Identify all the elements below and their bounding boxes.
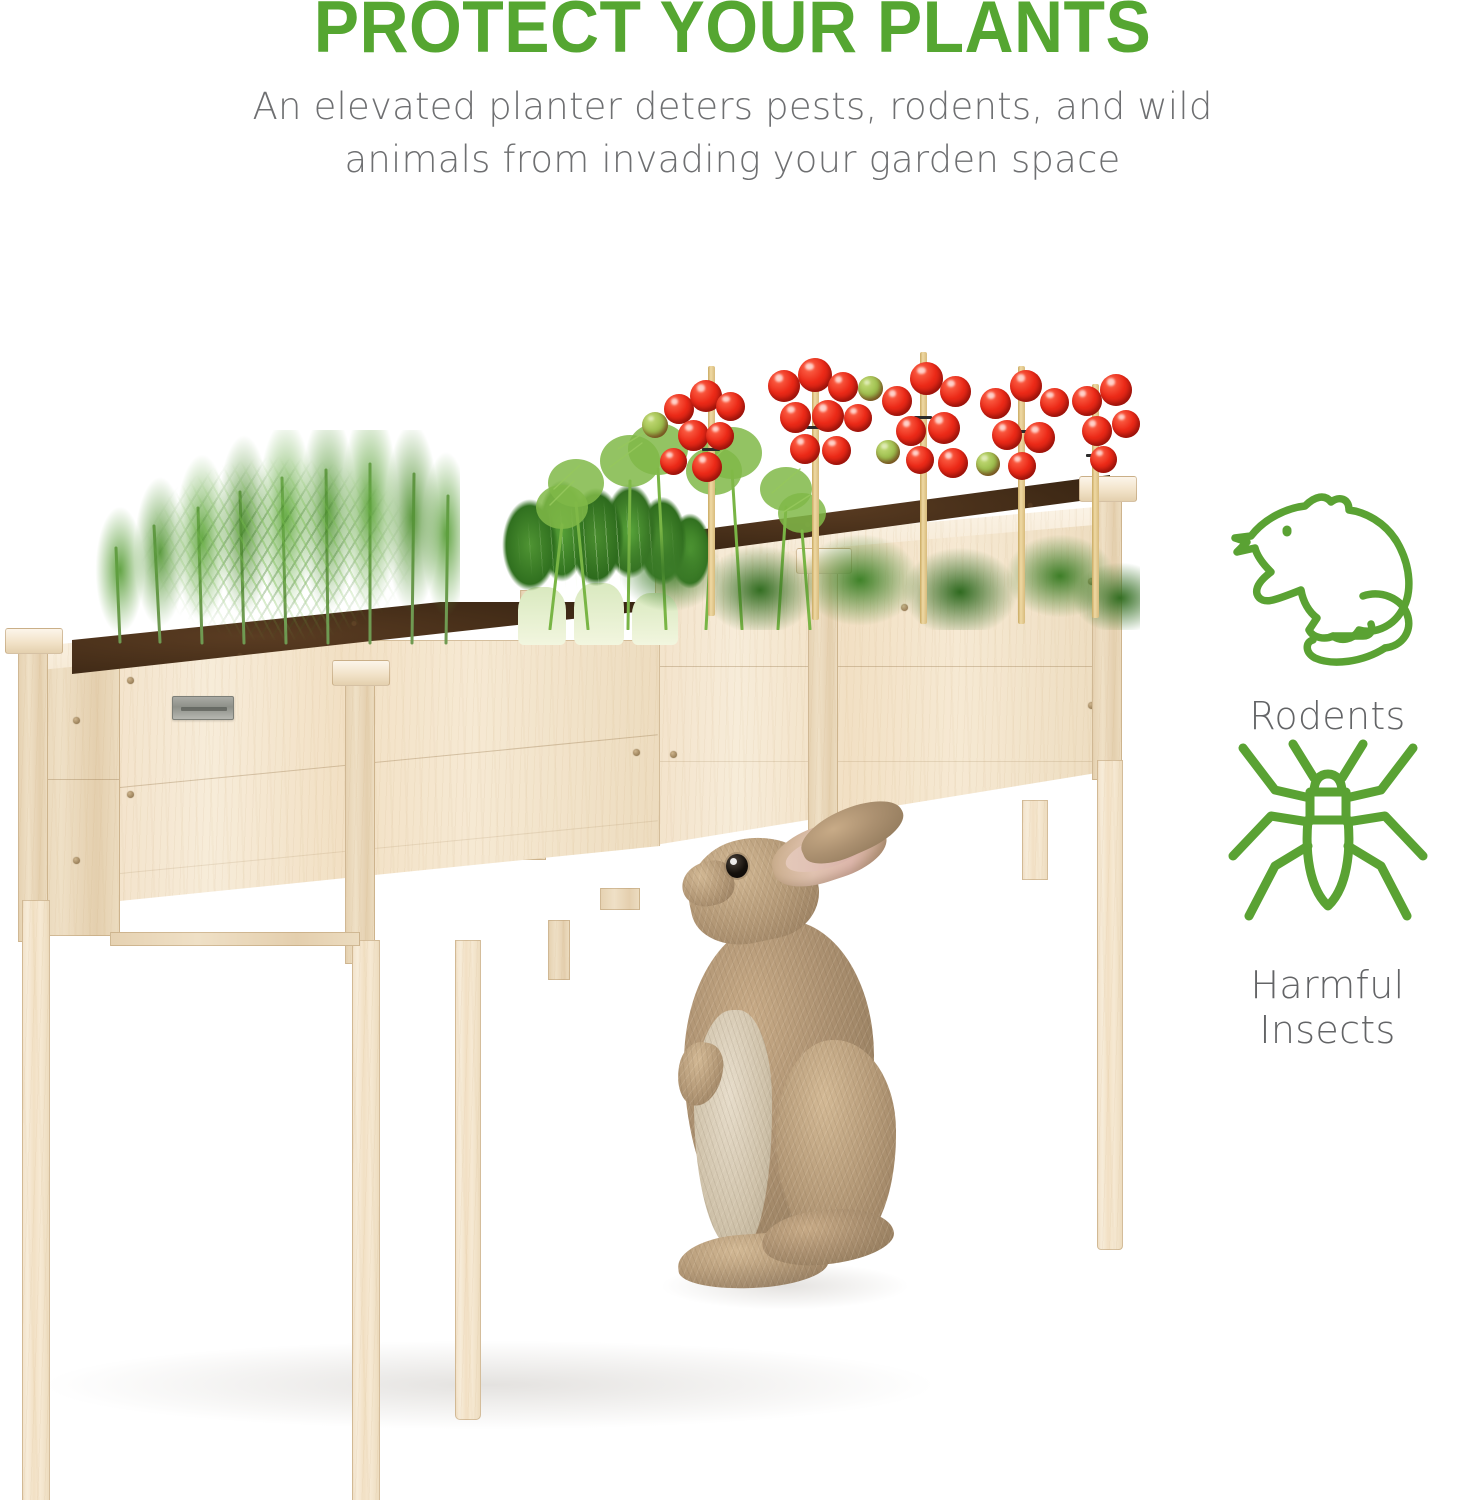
planter-leg-mid-front: [455, 940, 481, 1420]
planter-leg-left-front: [22, 900, 50, 1500]
page-subtitle: An elevated planter deters pests, rodent…: [113, 80, 1353, 186]
planter-leg-right-front: [1022, 800, 1048, 880]
subtitle-line-1: An elevated planter deters pests, rodent…: [113, 80, 1353, 133]
page-title: PROTECT YOUR PLANTS: [51, 0, 1413, 69]
floor-shadow: [40, 1340, 940, 1430]
tomato-stake: [812, 358, 819, 620]
tomato-stake: [1018, 366, 1025, 624]
planter-leg-left-rear: [352, 940, 380, 1500]
product-marketing-image: PROTECT YOUR PLANTS An elevated planter …: [0, 0, 1465, 1500]
plant-bed: [0, 300, 1190, 700]
rosemary-needle-texture: [90, 430, 460, 640]
feature-insects-label-line-1: Harmful: [1190, 963, 1465, 1008]
feature-harmful-insects: Harmful Insects: [1190, 730, 1465, 1053]
feature-rodents: Rodents: [1190, 490, 1465, 739]
planter-post-left-rear: [345, 674, 375, 964]
rabbit: [650, 810, 950, 1330]
plant-rosemary: [90, 430, 460, 640]
planter-leg-mid-rear: [548, 920, 570, 980]
insect-icon: [1213, 730, 1443, 945]
product-photo: [0, 300, 1190, 1500]
rabbit-eye: [726, 854, 748, 878]
feature-icon-column: Rodents: [1190, 300, 1465, 1500]
planter-leg-right-rear: [1097, 760, 1123, 1250]
planter-support-cleat-right: [600, 888, 640, 910]
subtitle-line-2: animals from invading your garden space: [113, 133, 1353, 186]
plant-cherry-tomatoes: [620, 330, 1140, 630]
planter-support-cleat-left: [110, 932, 360, 946]
feature-insects-label-line-2: Insects: [1190, 1008, 1465, 1053]
rabbit-eye-highlight: [730, 858, 737, 865]
rabbit-shadow: [660, 1262, 910, 1310]
rodent-icon: [1213, 490, 1443, 680]
